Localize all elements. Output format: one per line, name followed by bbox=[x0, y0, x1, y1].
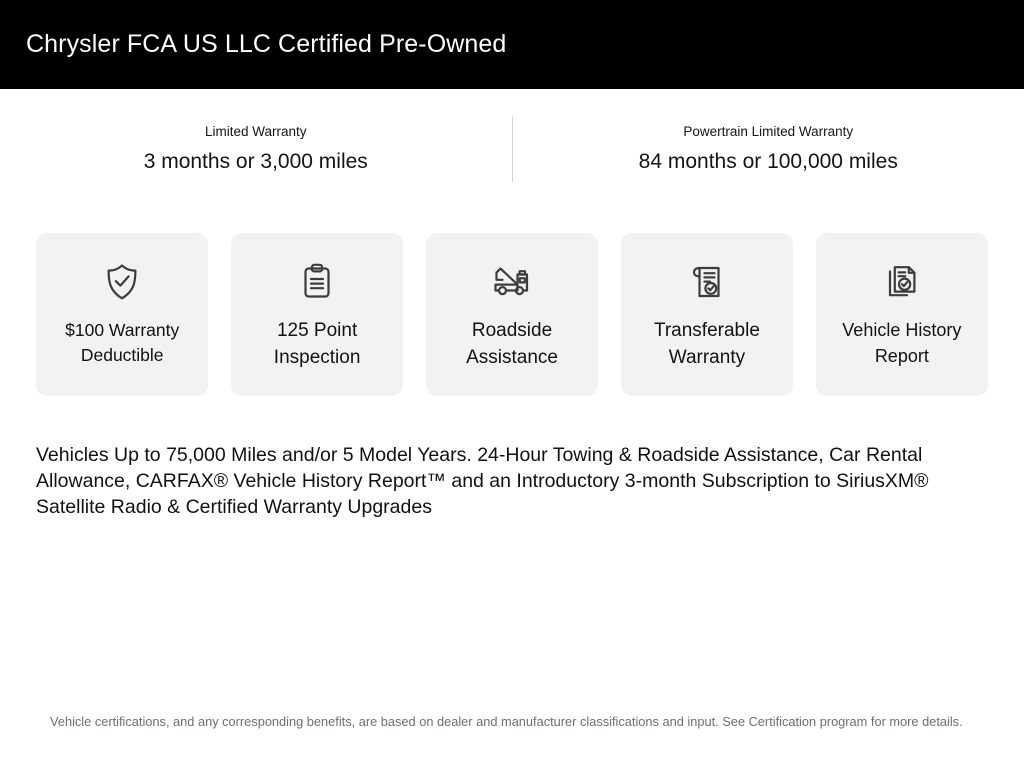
certificate-check-icon bbox=[684, 259, 730, 305]
limited-warranty-label: Limited Warranty bbox=[205, 125, 307, 140]
feature-card-point-inspection[interactable]: 125 Point Inspection bbox=[231, 233, 403, 396]
page-header: Chrysler FCA US LLC Certified Pre-Owned bbox=[0, 0, 1024, 89]
feature-card-label: $100 Warranty Deductible bbox=[36, 318, 208, 368]
feature-card-label: 125 Point Inspection bbox=[231, 318, 403, 372]
feature-card-label: Transferable Warranty bbox=[621, 318, 793, 372]
tow-truck-icon bbox=[489, 259, 535, 305]
feature-card-roadside-assistance[interactable]: Roadside Assistance bbox=[426, 233, 598, 396]
certified-pre-owned-page: Chrysler FCA US LLC Certified Pre-Owned … bbox=[0, 0, 1024, 768]
feature-card-vehicle-history-report[interactable]: Vehicle History Report bbox=[816, 233, 988, 396]
powertrain-warranty-value: 84 months or 100,000 miles bbox=[639, 150, 898, 174]
disclaimer-text: Vehicle certifications, and any correspo… bbox=[50, 712, 990, 732]
feature-card-list: $100 Warranty Deductible 125 Point Inspe… bbox=[36, 233, 988, 396]
shield-check-icon bbox=[99, 259, 145, 305]
powertrain-warranty-label: Powertrain Limited Warranty bbox=[683, 125, 853, 140]
program-description: Vehicles Up to 75,000 Miles and/or 5 Mod… bbox=[36, 443, 992, 521]
limited-warranty-value: 3 months or 3,000 miles bbox=[144, 150, 368, 174]
feature-card-label: Roadside Assistance bbox=[426, 318, 598, 372]
page-title: Chrysler FCA US LLC Certified Pre-Owned bbox=[0, 30, 506, 59]
clipboard-icon bbox=[294, 259, 340, 305]
warranty-summary: Limited Warranty 3 months or 3,000 miles… bbox=[0, 108, 1024, 190]
warranty-column-powertrain: Powertrain Limited Warranty 84 months or… bbox=[513, 108, 1024, 174]
feature-card-warranty-deductible[interactable]: $100 Warranty Deductible bbox=[36, 233, 208, 396]
warranty-column-limited: Limited Warranty 3 months or 3,000 miles bbox=[0, 108, 512, 174]
feature-card-transferable-warranty[interactable]: Transferable Warranty bbox=[621, 233, 793, 396]
feature-card-label: Vehicle History Report bbox=[816, 318, 988, 369]
documents-check-icon bbox=[879, 259, 925, 305]
